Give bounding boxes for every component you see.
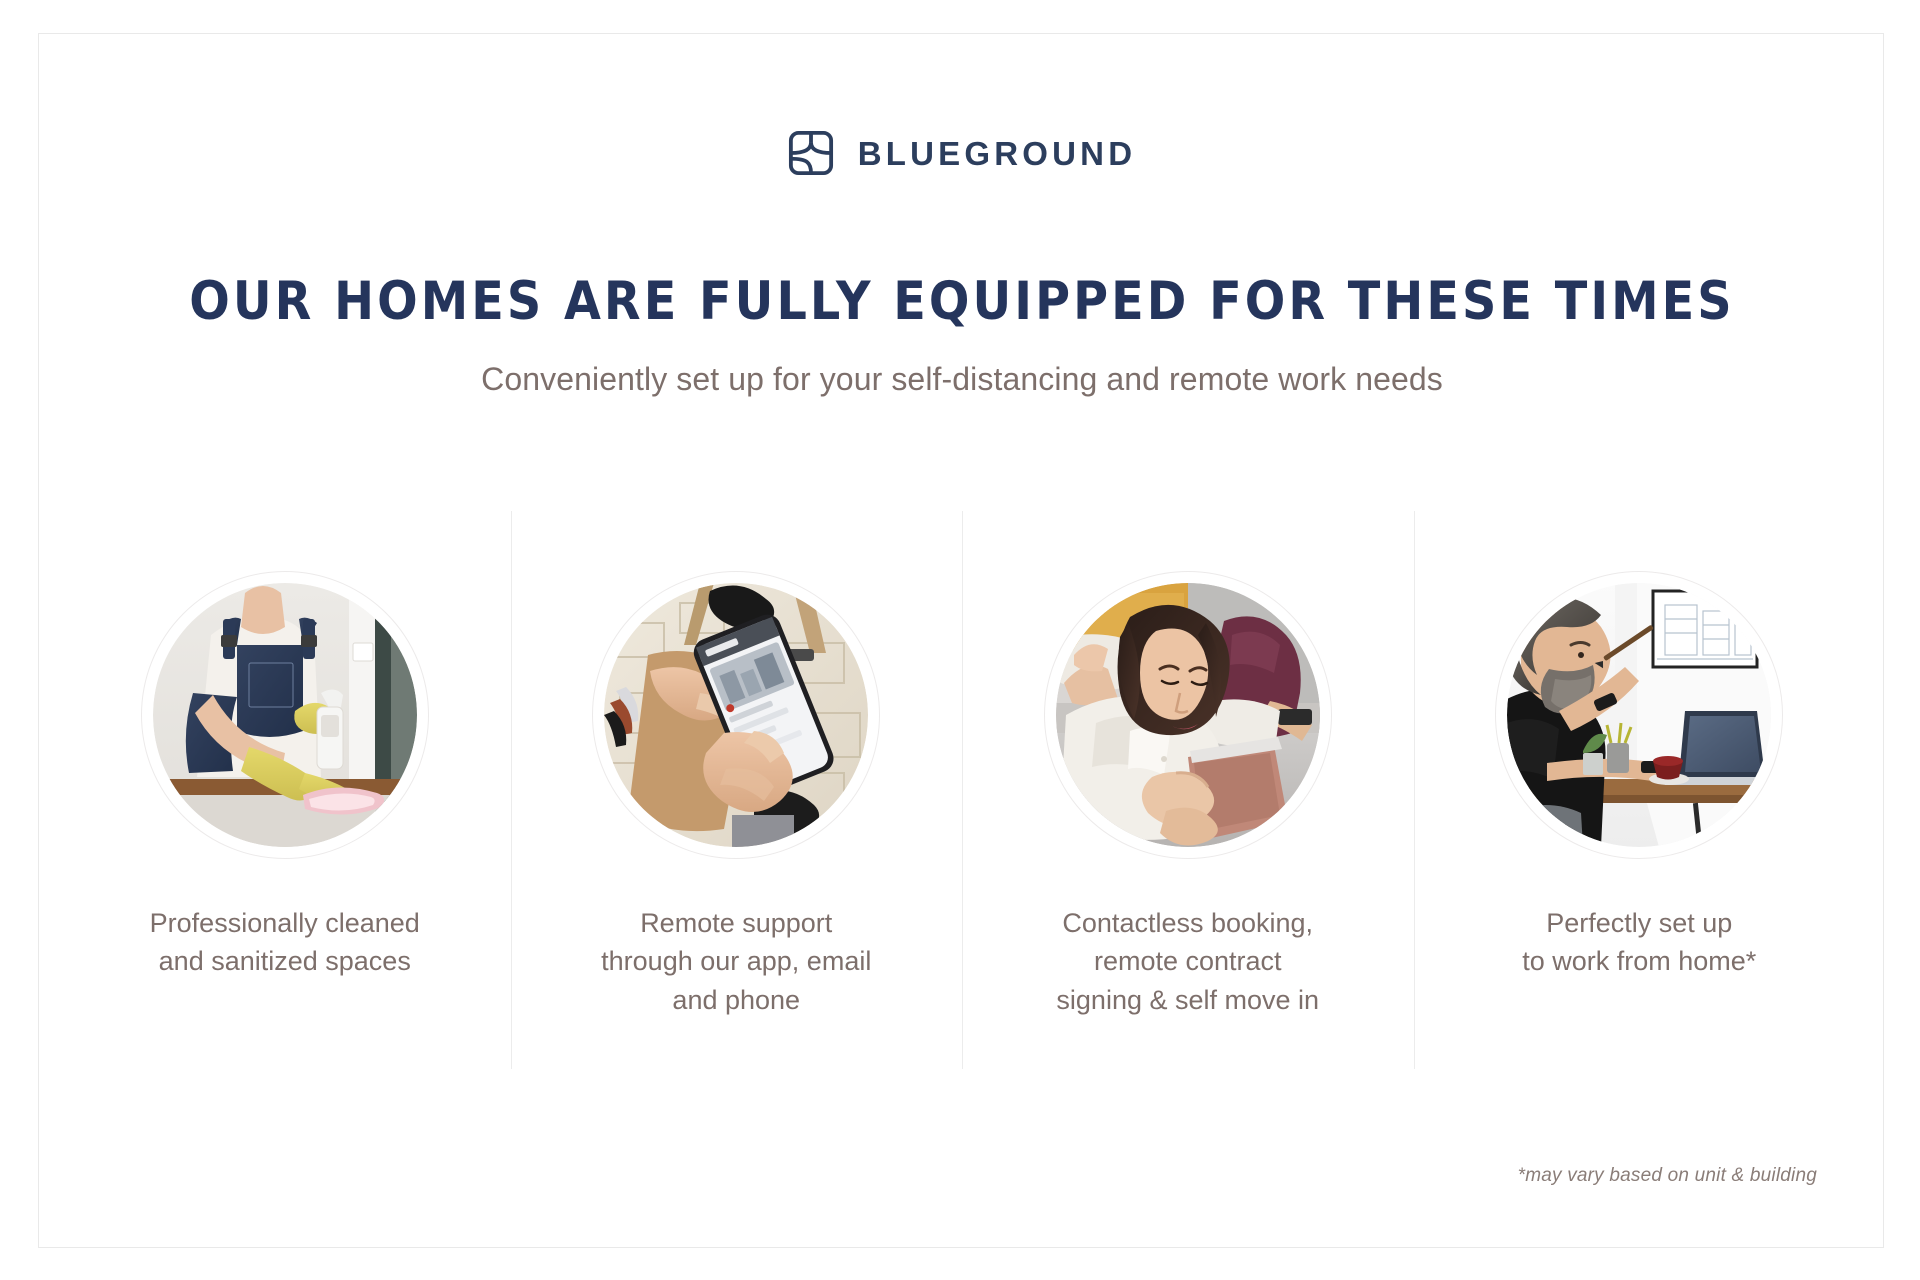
photo-ring: [1495, 571, 1783, 859]
content-card: BLUEGROUND OUR HOMES ARE FULLY EQUIPPED …: [38, 33, 1884, 1248]
page-title: OUR HOMES ARE FULLY EQUIPPED FOR THESE T…: [131, 274, 1792, 330]
contactless-booking-tablet-photo: [1056, 583, 1320, 847]
feature-caption: Remote support through our app, email an…: [601, 904, 871, 1019]
feature-caption: Professionally cleaned and sanitized spa…: [150, 904, 420, 981]
photo-ring: [592, 571, 880, 859]
page-root: BLUEGROUND OUR HOMES ARE FULLY EQUIPPED …: [0, 0, 1920, 1280]
photo-ring: [1044, 571, 1332, 859]
feature-caption: Contactless booking, remote contract sig…: [1056, 904, 1319, 1019]
professional-cleaning-photo: [153, 583, 417, 847]
brand-wordmark: BLUEGROUND: [858, 137, 1137, 170]
blueground-square-logo-icon: [788, 130, 834, 176]
feature-column-work-from-home: Perfectly set up to work from home*: [1414, 511, 1866, 1101]
remote-support-phone-photo: [604, 583, 868, 847]
photo-ring: [141, 571, 429, 859]
feature-column-remote-support: Remote support through our app, email an…: [511, 511, 963, 1101]
page-subtitle: Conveniently set up for your self-distan…: [39, 359, 1885, 401]
feature-column-contactless-booking: Contactless booking, remote contract sig…: [962, 511, 1414, 1101]
feature-caption: Perfectly set up to work from home*: [1522, 904, 1756, 981]
feature-column-cleaning: Professionally cleaned and sanitized spa…: [59, 511, 511, 1101]
feature-columns: Professionally cleaned and sanitized spa…: [59, 511, 1865, 1101]
work-from-home-desk-photo: [1507, 583, 1771, 847]
brand-logo: BLUEGROUND: [39, 130, 1885, 176]
footnote-disclaimer: *may vary based on unit & building: [1518, 1165, 1817, 1187]
